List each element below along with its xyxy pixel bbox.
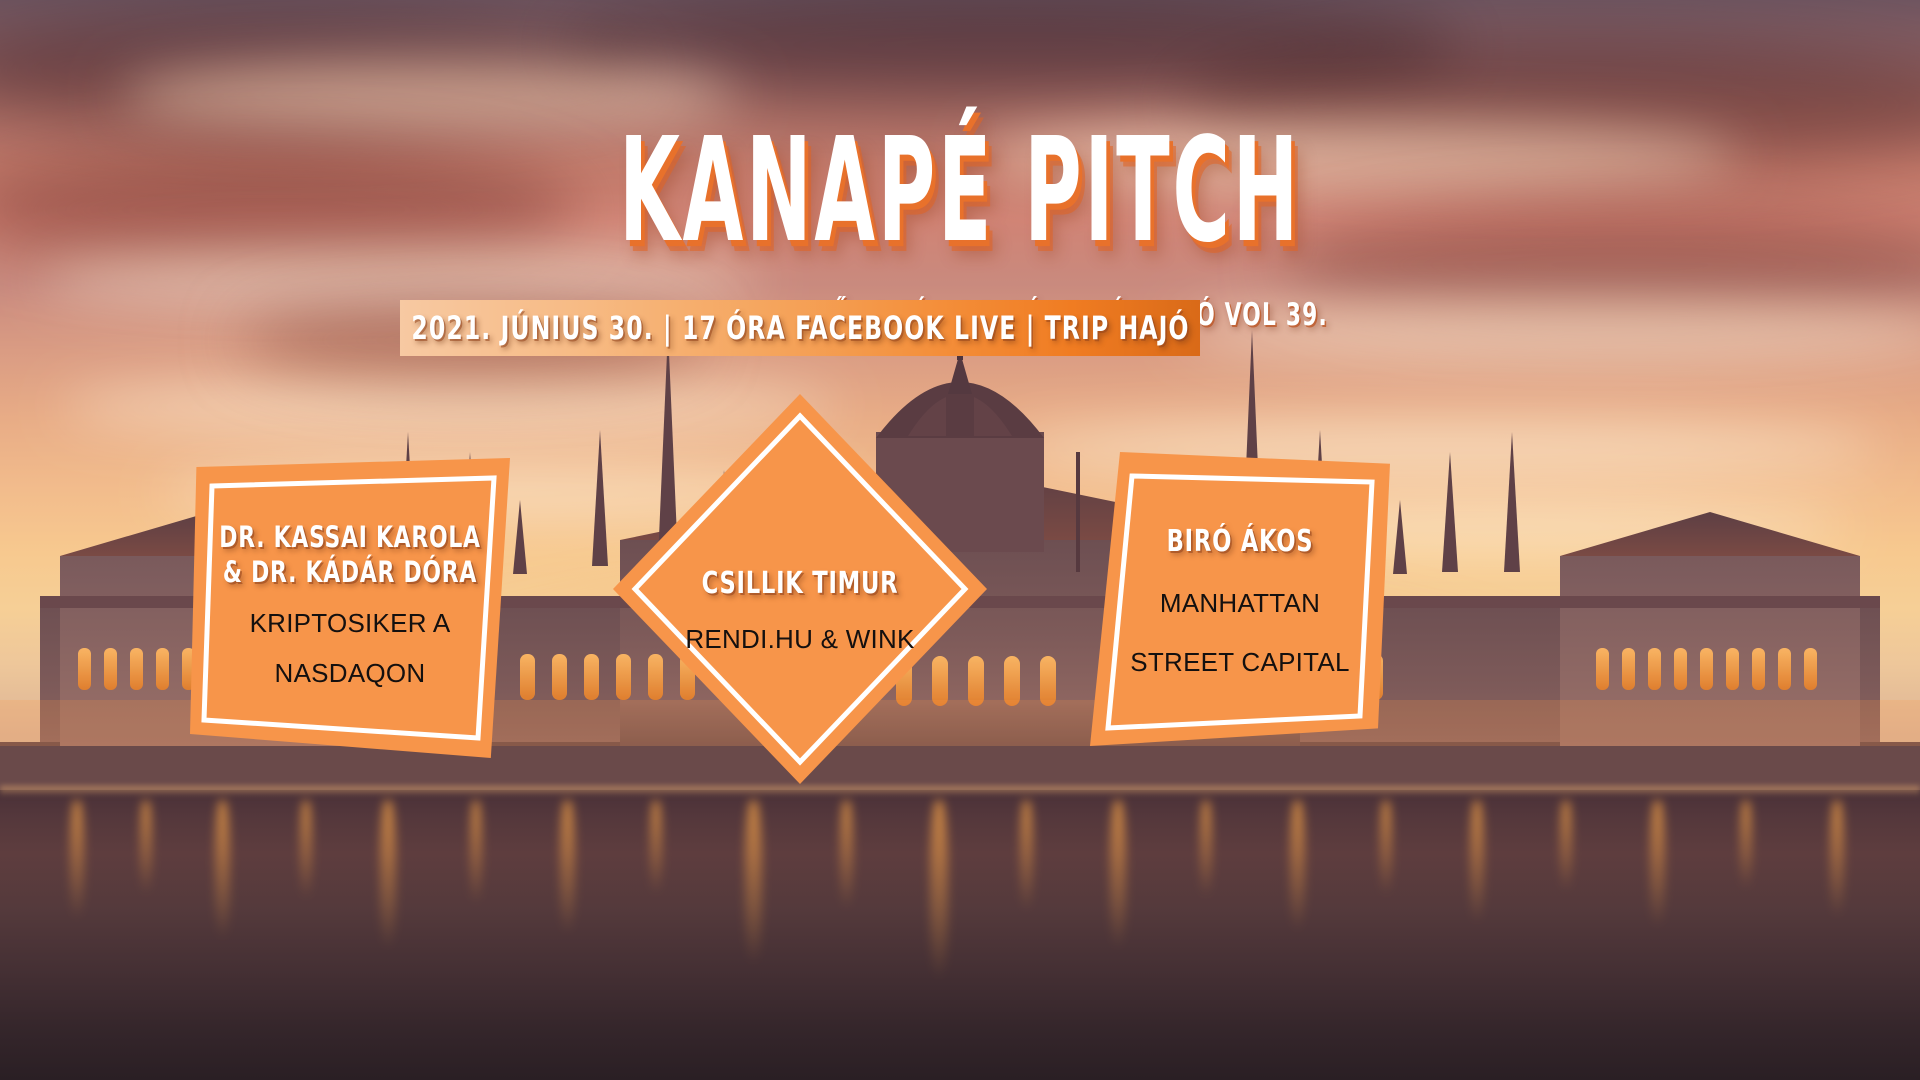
water-reflection [300,800,312,900]
speaker-name-line-1: CSILLIK TIMUR [643,566,957,603]
water-reflection [930,800,948,980]
danube-water [0,790,1920,1080]
event-details-bar: 2021. JÚNIUS 30. | 17 ÓRA FACEBOOK LIVE … [400,300,1200,356]
speaker-card-left-body: DR. KASSAI KAROLA & DR. KÁDÁR DÓRA KRIPT… [190,520,510,690]
speaker-org-line-1: RENDI.HU & WINK [613,623,987,657]
event-details-text: 2021. JÚNIUS 30. | 17 ÓRA FACEBOOK LIVE … [411,309,1189,347]
speaker-card-center[interactable]: CSILLIK TIMUR RENDI.HU & WINK [613,394,987,784]
water-reflection [1830,800,1844,918]
water-reflection [1290,800,1305,932]
water-reflection [380,800,396,950]
speaker-org-line-1: MANHATTAN [1090,587,1390,621]
event-poster: KANAPÉ PITCH BEFEKTETŐI & TÁMOGATÓI TALÁ… [0,0,1920,1080]
water-reflection [1560,800,1572,892]
speaker-card-left[interactable]: DR. KASSAI KAROLA & DR. KÁDÁR DÓRA KRIPT… [190,458,510,758]
water-reflection [70,800,84,920]
water-reflection [1380,800,1392,896]
speaker-card-center-body: CSILLIK TIMUR RENDI.HU & WINK [613,566,987,656]
water-reflection [1650,800,1665,928]
speaker-name-line-1: BIRÓ ÁKOS [1114,524,1366,561]
water-reflection [1020,800,1033,912]
water-reflection [560,800,575,935]
speaker-name-line-2: & DR. KÁDÁR DÓRA [216,555,485,590]
speaker-card-right-body: BIRÓ ÁKOS MANHATTAN STREET CAPITAL [1090,524,1390,680]
page-title: KANAPÉ PITCH [250,118,1671,262]
water-reflection [140,800,152,895]
water-reflection [1200,800,1212,898]
speaker-card-right[interactable]: BIRÓ ÁKOS MANHATTAN STREET CAPITAL [1090,452,1390,746]
water-reflection [470,800,482,905]
speaker-org-line-2: NASDAQON [190,657,510,691]
water-reflection [1740,800,1752,890]
water-reflection [215,800,230,940]
water-reflection [650,800,662,895]
water-reflection [840,800,853,910]
speaker-org-line-1: KRIPTOSIKER A [190,607,510,641]
speaker-name-line-1: DR. KASSAI KAROLA [216,520,485,555]
water-reflection [1470,800,1484,924]
waterline [0,786,1920,796]
speaker-org-line-2: STREET CAPITAL [1090,646,1390,680]
water-reflection [1110,800,1126,950]
water-reflection [745,800,762,965]
